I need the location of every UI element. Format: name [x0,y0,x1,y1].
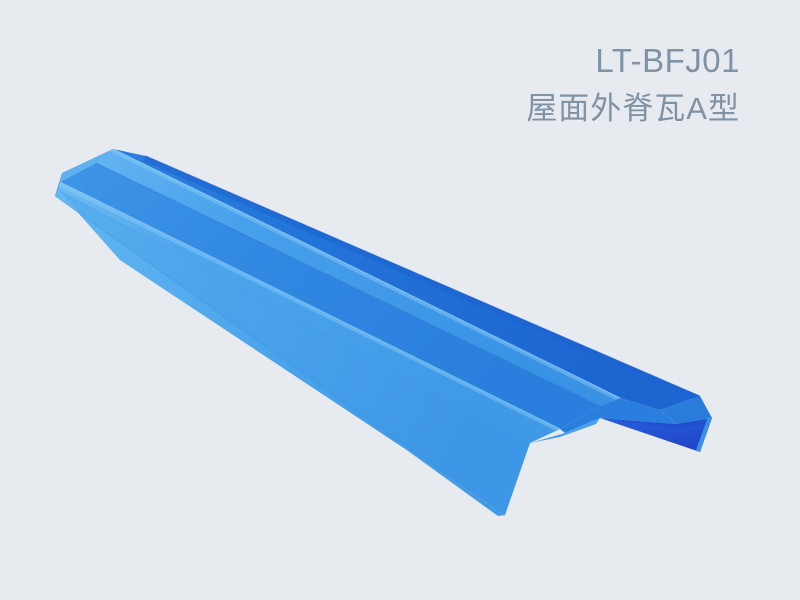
product-code-label: LT-BFJ01 [320,44,740,77]
facet-right-flange-inner [600,418,712,452]
product-name-label: 屋面外脊瓦A型 [320,93,740,124]
product-illustration-stage: LT-BFJ01 屋面外脊瓦A型 [0,0,800,600]
product-caption: LT-BFJ01 屋面外脊瓦A型 [320,44,740,124]
